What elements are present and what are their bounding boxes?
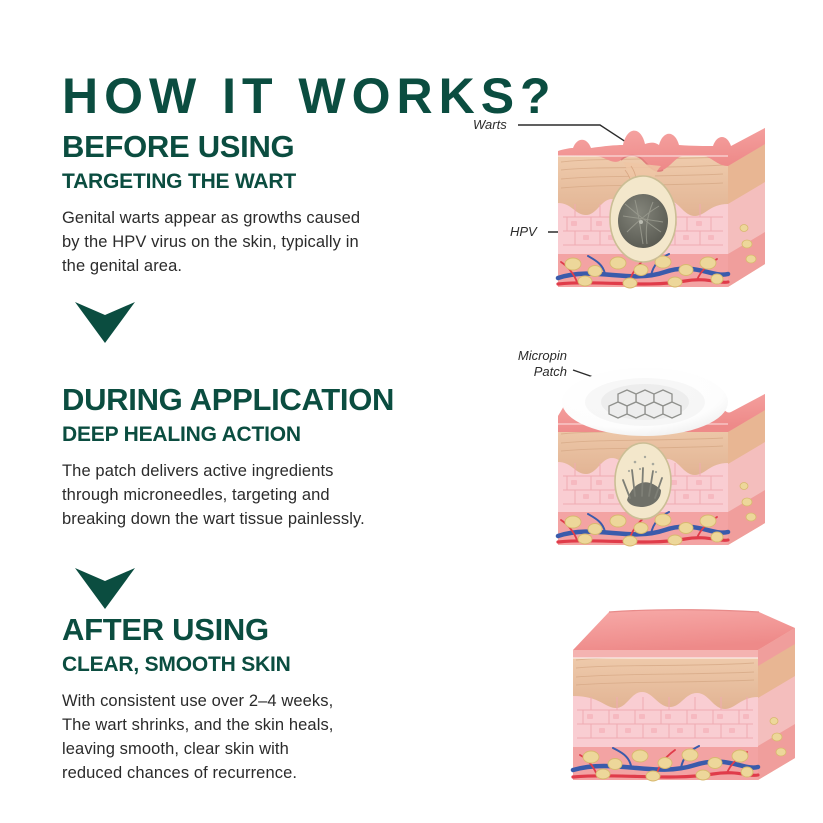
diagram-label-warts: Warts (473, 117, 507, 132)
step-block-after-using: AFTER USING CLEAR, SMOOTH SKIN With cons… (62, 613, 462, 786)
step-block-before-using: BEFORE USING TARGETING THE WART Genital … (62, 130, 462, 279)
skin-block (573, 610, 795, 781)
step-subtitle-deep-healing-action: DEEP HEALING ACTION (62, 423, 462, 447)
diagram-label-hpv: HPV (510, 224, 538, 239)
step-title-after-using: AFTER USING (62, 613, 462, 647)
step-body-after-using: With consistent use over 2–4 weeks, The … (62, 690, 462, 786)
diagram-label-micropin: Micropin (518, 348, 567, 363)
step-body-line: Genital warts appear as growths caused (62, 207, 462, 231)
step-body-line: With consistent use over 2–4 weeks, (62, 690, 462, 714)
step-body-before-using: Genital warts appear as growths caused b… (62, 207, 462, 279)
step-subtitle-clear-smooth-skin: CLEAR, SMOOTH SKIN (62, 653, 462, 677)
step-body-line: by the HPV virus on the skin, typically … (62, 231, 462, 255)
step-body-line: The wart shrinks, and the skin heals, (62, 714, 462, 738)
step-title-before-using: BEFORE USING (62, 130, 462, 164)
diagram-skin-with-micropin-patch: Micropin Patch (455, 338, 823, 560)
skin-block (558, 128, 765, 288)
down-arrow-icon-2 (74, 566, 136, 610)
step-body-line: the genital area. (62, 255, 462, 279)
step-subtitle-targeting-the-wart: TARGETING THE WART (62, 170, 462, 194)
step-body-line: through microneedles, targeting and (62, 484, 462, 508)
step-body-line: leaving smooth, clear skin with (62, 738, 462, 762)
step-body-line: breaking down the wart tissue painlessly… (62, 508, 462, 532)
step-body-line: The patch delivers active ingredients (62, 460, 462, 484)
step-body-line: reduced chances of recurrence. (62, 762, 462, 786)
infographic-page: HOW IT WORKS? BEFORE USING TARGETING THE… (0, 0, 823, 823)
down-arrow-icon-1 (74, 300, 136, 344)
diagram-skin-with-wart: Warts HPV (455, 104, 823, 309)
step-body-during-application: The patch delivers active ingredients th… (62, 460, 462, 532)
diagram-healthy-skin (545, 600, 823, 800)
diagram-label-patch: Patch (534, 364, 567, 379)
step-title-during-application: DURING APPLICATION (62, 383, 462, 417)
skin-block (558, 368, 765, 546)
step-block-during-application: DURING APPLICATION DEEP HEALING ACTION T… (62, 383, 462, 532)
